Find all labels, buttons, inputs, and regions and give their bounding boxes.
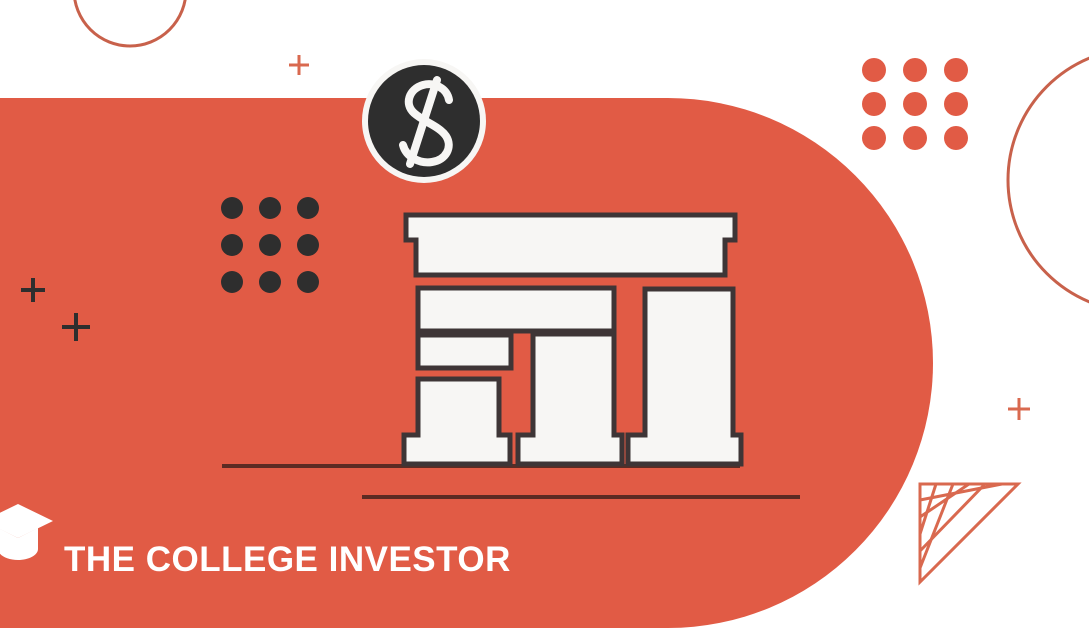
banner-canvas: THE COLLEGE INVESTOR bbox=[0, 0, 1089, 628]
plus-orange-left-lower-icon bbox=[62, 313, 90, 341]
plus-orange-left-upper-icon bbox=[21, 278, 45, 302]
dollar-coin-badge bbox=[362, 59, 486, 183]
bank-lower-lintel bbox=[418, 335, 511, 368]
bank-column-center bbox=[518, 334, 622, 464]
bank-column-right bbox=[628, 289, 741, 464]
dot-grid-dark bbox=[221, 197, 319, 293]
dot-grid-orange bbox=[862, 58, 968, 150]
illustration-layer bbox=[0, 0, 1089, 628]
bank-cornice bbox=[406, 215, 735, 275]
bank-building-illustration bbox=[404, 215, 741, 464]
bank-upper-lintel bbox=[418, 288, 614, 331]
plus-white-right-icon bbox=[1008, 398, 1030, 420]
hatched-triangle-icon bbox=[920, 484, 1018, 582]
bank-column-left bbox=[404, 379, 510, 464]
plus-white-top-icon bbox=[289, 55, 309, 75]
